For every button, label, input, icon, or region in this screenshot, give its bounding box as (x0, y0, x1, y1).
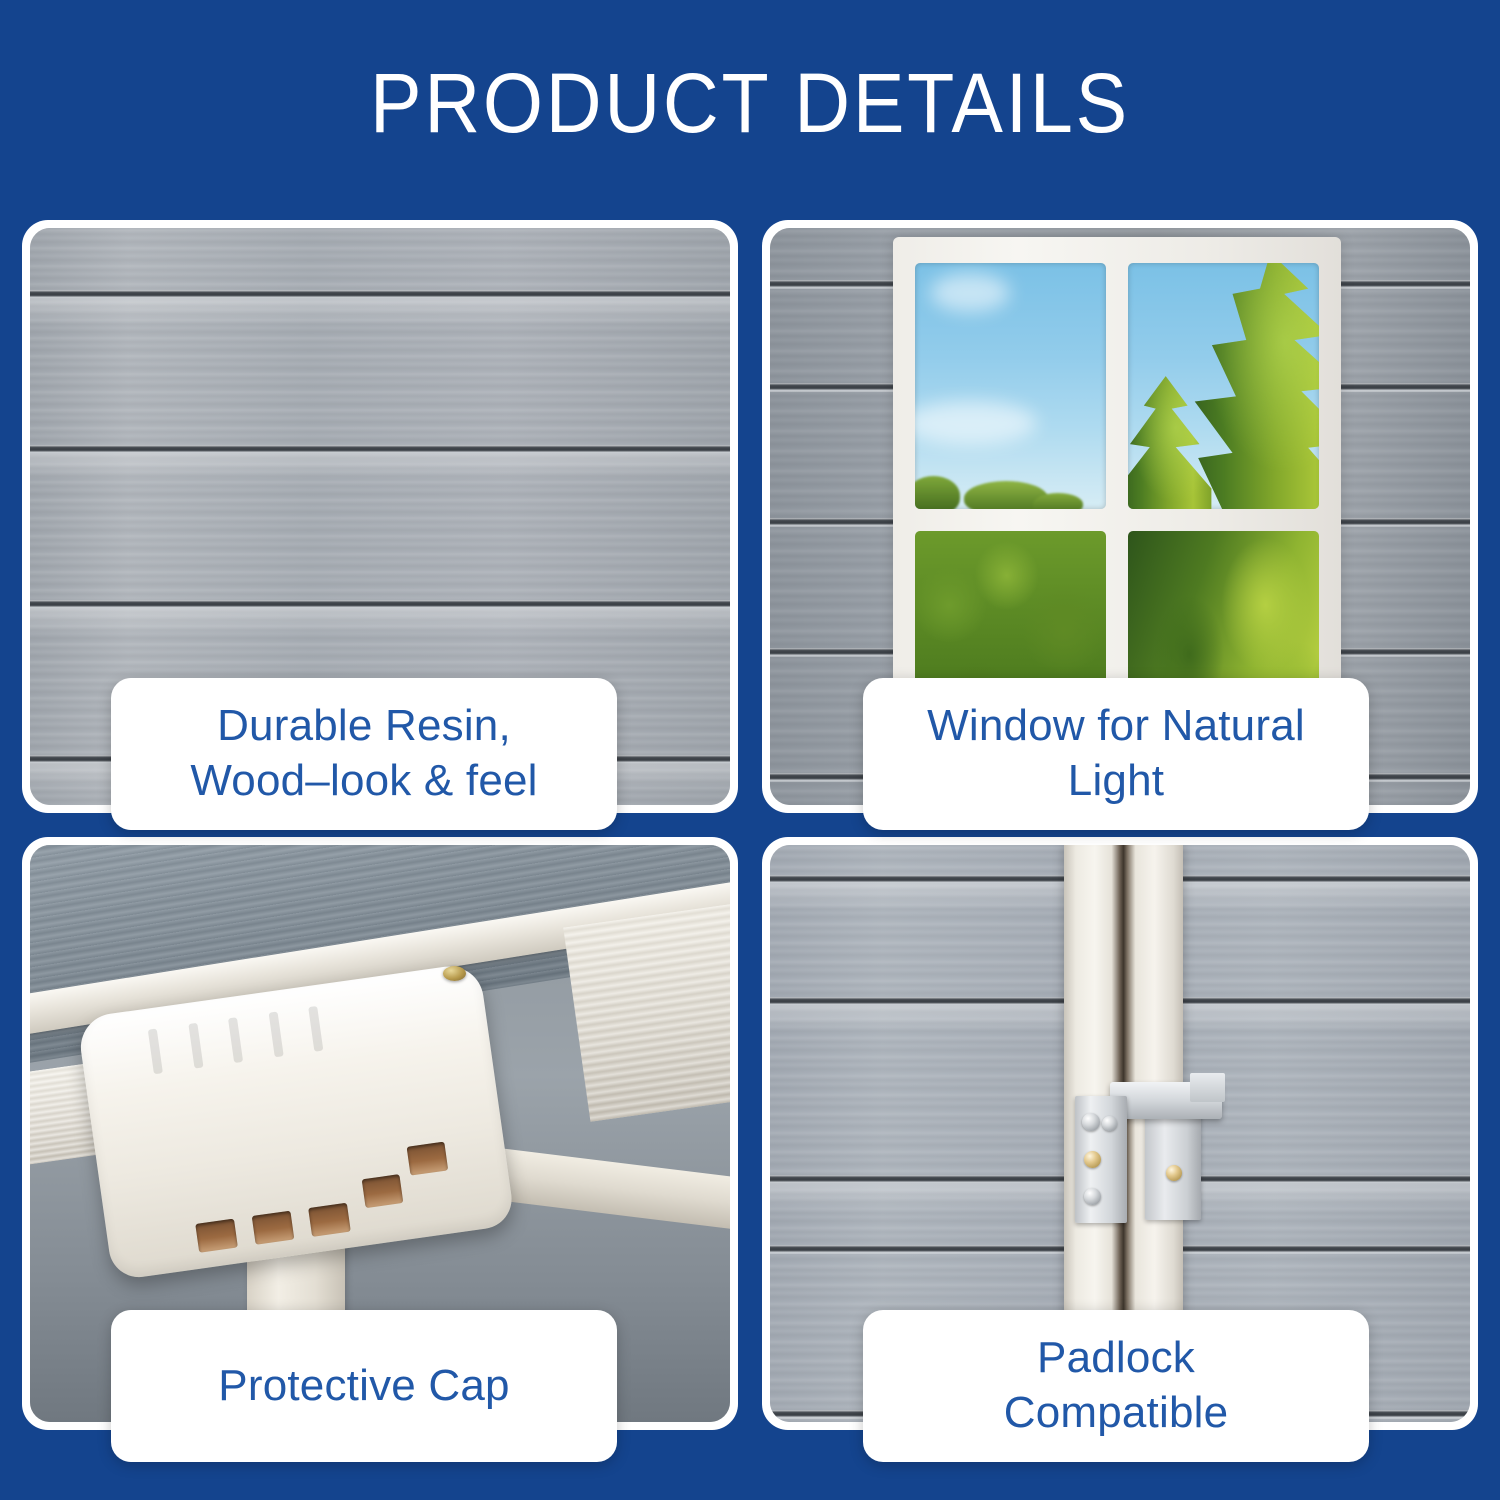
caption-card-protective-cap[interactable]: Protective Cap (111, 1310, 617, 1462)
siding-plank-highlight (30, 454, 730, 480)
siding-plank-highlight (30, 299, 730, 325)
hasp-plate-right (1145, 1105, 1201, 1220)
cloud (915, 401, 1037, 445)
conifer-tree (1181, 263, 1319, 510)
siding-groove (30, 600, 730, 609)
caption-text: Durable Resin,Wood–look & feel (174, 699, 553, 808)
siding-groove (30, 290, 730, 299)
tree-top (915, 476, 961, 509)
hasp-rivet (1084, 1151, 1101, 1168)
cap-notch (228, 1018, 243, 1064)
caption-text: Window for NaturalLight (911, 699, 1321, 808)
caption-text: Protective Cap (202, 1359, 525, 1414)
caption-card-window[interactable]: Window for NaturalLight (863, 678, 1369, 830)
product-details-infographic: PRODUCT DETAILS (0, 0, 1500, 1500)
window-pane-top-left (915, 263, 1106, 510)
cap-notch (309, 1006, 324, 1052)
caption-card-durable-resin[interactable]: Durable Resin,Wood–look & feel (111, 678, 617, 830)
cap-vent-slot (252, 1211, 294, 1245)
cap-notch (268, 1012, 283, 1058)
cap-notch (148, 1029, 163, 1075)
cap-vent-slot (406, 1141, 448, 1175)
page-title: PRODUCT DETAILS (370, 61, 1130, 145)
hasp-rivet (1102, 1116, 1117, 1131)
header: PRODUCT DETAILS (0, 0, 1500, 200)
cloud (930, 273, 1010, 312)
siding-groove (30, 445, 730, 454)
cap-notch (188, 1023, 203, 1069)
cap-vent-slot (362, 1174, 404, 1208)
caption-card-padlock[interactable]: PadlockCompatible (863, 1310, 1369, 1462)
hasp-arm-tip (1190, 1073, 1225, 1102)
hasp-rivet (1166, 1165, 1182, 1181)
caption-text: PadlockCompatible (988, 1331, 1245, 1440)
window-pane-top-right (1128, 263, 1319, 510)
protective-cap (77, 962, 516, 1281)
tree-top (1033, 493, 1083, 509)
cap-vent-slot (196, 1219, 238, 1253)
roof-rail-right (563, 903, 730, 1123)
conifer-tree (1128, 376, 1216, 509)
cap-vent-slot (308, 1203, 350, 1237)
siding-plank-highlight (30, 609, 730, 635)
